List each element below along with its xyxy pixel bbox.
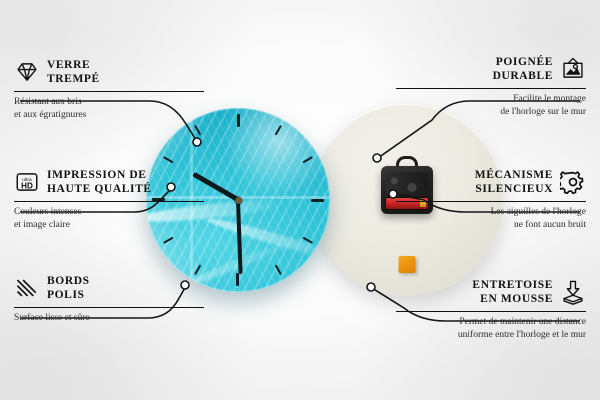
feature-desc-line2: de l'horloge sur le mur (500, 107, 586, 117)
hour-tick (238, 199, 324, 201)
feature-title-line1: BORDS (47, 275, 90, 287)
feature-desc-line1: Les aiguilles de l'horloge (491, 207, 586, 217)
hour-tick (237, 114, 239, 200)
diamond-icon (14, 59, 40, 85)
feature-title: POIGNÉE DURABLE (493, 55, 553, 84)
feature-description: Résistant aux bris et aux égratignures (14, 96, 204, 121)
feature-title-line2: EN MOUSSE (480, 293, 553, 305)
feature-title-line1: POIGNÉE (496, 56, 553, 68)
feature-desc-line1: Facilite le montage (513, 94, 586, 104)
feature-divider (14, 91, 204, 93)
feature-title-line1: VERRE (47, 59, 90, 71)
feature-title-line2: HAUTE QUALITÉ (47, 183, 152, 195)
feature-head: BORDS POLIS (14, 274, 204, 303)
feature-desc-line1: Permet de maintenir une distance (459, 317, 586, 327)
foam-spacer (399, 256, 416, 273)
feature-entretoise-en-mousse: ENTRETOISE EN MOUSSE Permet de maintenir… (396, 278, 586, 341)
feature-desc-line2: et aux égratignures (14, 110, 86, 120)
feature-title-line1: ENTRETOISE (472, 279, 553, 291)
feature-head: POIGNÉE DURABLE (396, 55, 586, 84)
foam-spacer-icon (560, 279, 586, 305)
picture-hanger-icon (560, 56, 586, 82)
feature-desc-line1: Surface lisse et sûre (14, 313, 90, 323)
feature-poignee-durable: POIGNÉE DURABLE Facilite le montage de l… (396, 55, 586, 118)
feature-description: Surface lisse et sûre (14, 312, 204, 324)
svg-text:HD: HD (21, 182, 33, 191)
feature-title: ENTRETOISE EN MOUSSE (472, 278, 553, 307)
feature-divider (396, 311, 586, 313)
ultra-hd-icon: ultra HD (14, 169, 40, 195)
feature-head: VERRE TREMPÉ (14, 58, 204, 87)
feature-head: ultra HD IMPRESSION DE HAUTE QUALITÉ (14, 168, 204, 197)
feature-divider (14, 307, 204, 309)
feature-description: Facilite le montage de l'horloge sur le … (396, 93, 586, 118)
feature-head: MÉCANISME SILENCIEUX (396, 168, 586, 197)
feature-impression-haute-qualite: ultra HD IMPRESSION DE HAUTE QUALITÉ Cou… (14, 168, 204, 231)
feather-streak (269, 108, 330, 176)
polished-edges-icon (14, 275, 40, 301)
feature-desc-line2: uniforme entre l'horloge et le mur (458, 330, 586, 340)
feature-title: MÉCANISME SILENCIEUX (475, 168, 553, 197)
feature-title-line2: POLIS (47, 289, 85, 301)
feature-title: IMPRESSION DE HAUTE QUALITÉ (47, 168, 152, 197)
feature-head: ENTRETOISE EN MOUSSE (396, 278, 586, 307)
feature-description: Les aiguilles de l'horloge ne font aucun… (396, 206, 586, 231)
feature-mecanisme-silencieux: MÉCANISME SILENCIEUX Les aiguilles de l'… (396, 168, 586, 231)
feature-desc-line1: Résistant aux bris (14, 97, 82, 107)
feature-desc-line2: ne font aucun bruit (514, 220, 586, 230)
feature-description: Permet de maintenir une distance uniform… (396, 316, 586, 341)
feature-title-line2: TREMPÉ (47, 73, 100, 85)
product-stage: VERRE TREMPÉ Résistant aux bris et aux é… (0, 0, 600, 400)
hour-tick (237, 125, 282, 200)
feature-title-line2: DURABLE (493, 70, 553, 82)
feature-title: VERRE TREMPÉ (47, 58, 100, 87)
feature-divider (396, 88, 586, 90)
feature-desc-line2: et image claire (14, 220, 70, 230)
feature-verre-trempe: VERRE TREMPÉ Résistant aux bris et aux é… (14, 58, 204, 121)
feature-description: Couleurs intenses et image claire (14, 206, 204, 231)
feature-bords-polis: BORDS POLIS Surface lisse et sûre (14, 274, 204, 325)
feature-title-line1: MÉCANISME (475, 169, 553, 181)
feature-title: BORDS POLIS (47, 274, 90, 303)
clock-pivot (235, 197, 242, 204)
feature-divider (396, 201, 586, 203)
feature-divider (14, 201, 204, 203)
feature-title-line1: IMPRESSION DE (47, 169, 147, 181)
feature-title-line2: SILENCIEUX (475, 183, 553, 195)
gear-icon (560, 169, 586, 195)
feature-desc-line1: Couleurs intenses (14, 207, 81, 217)
